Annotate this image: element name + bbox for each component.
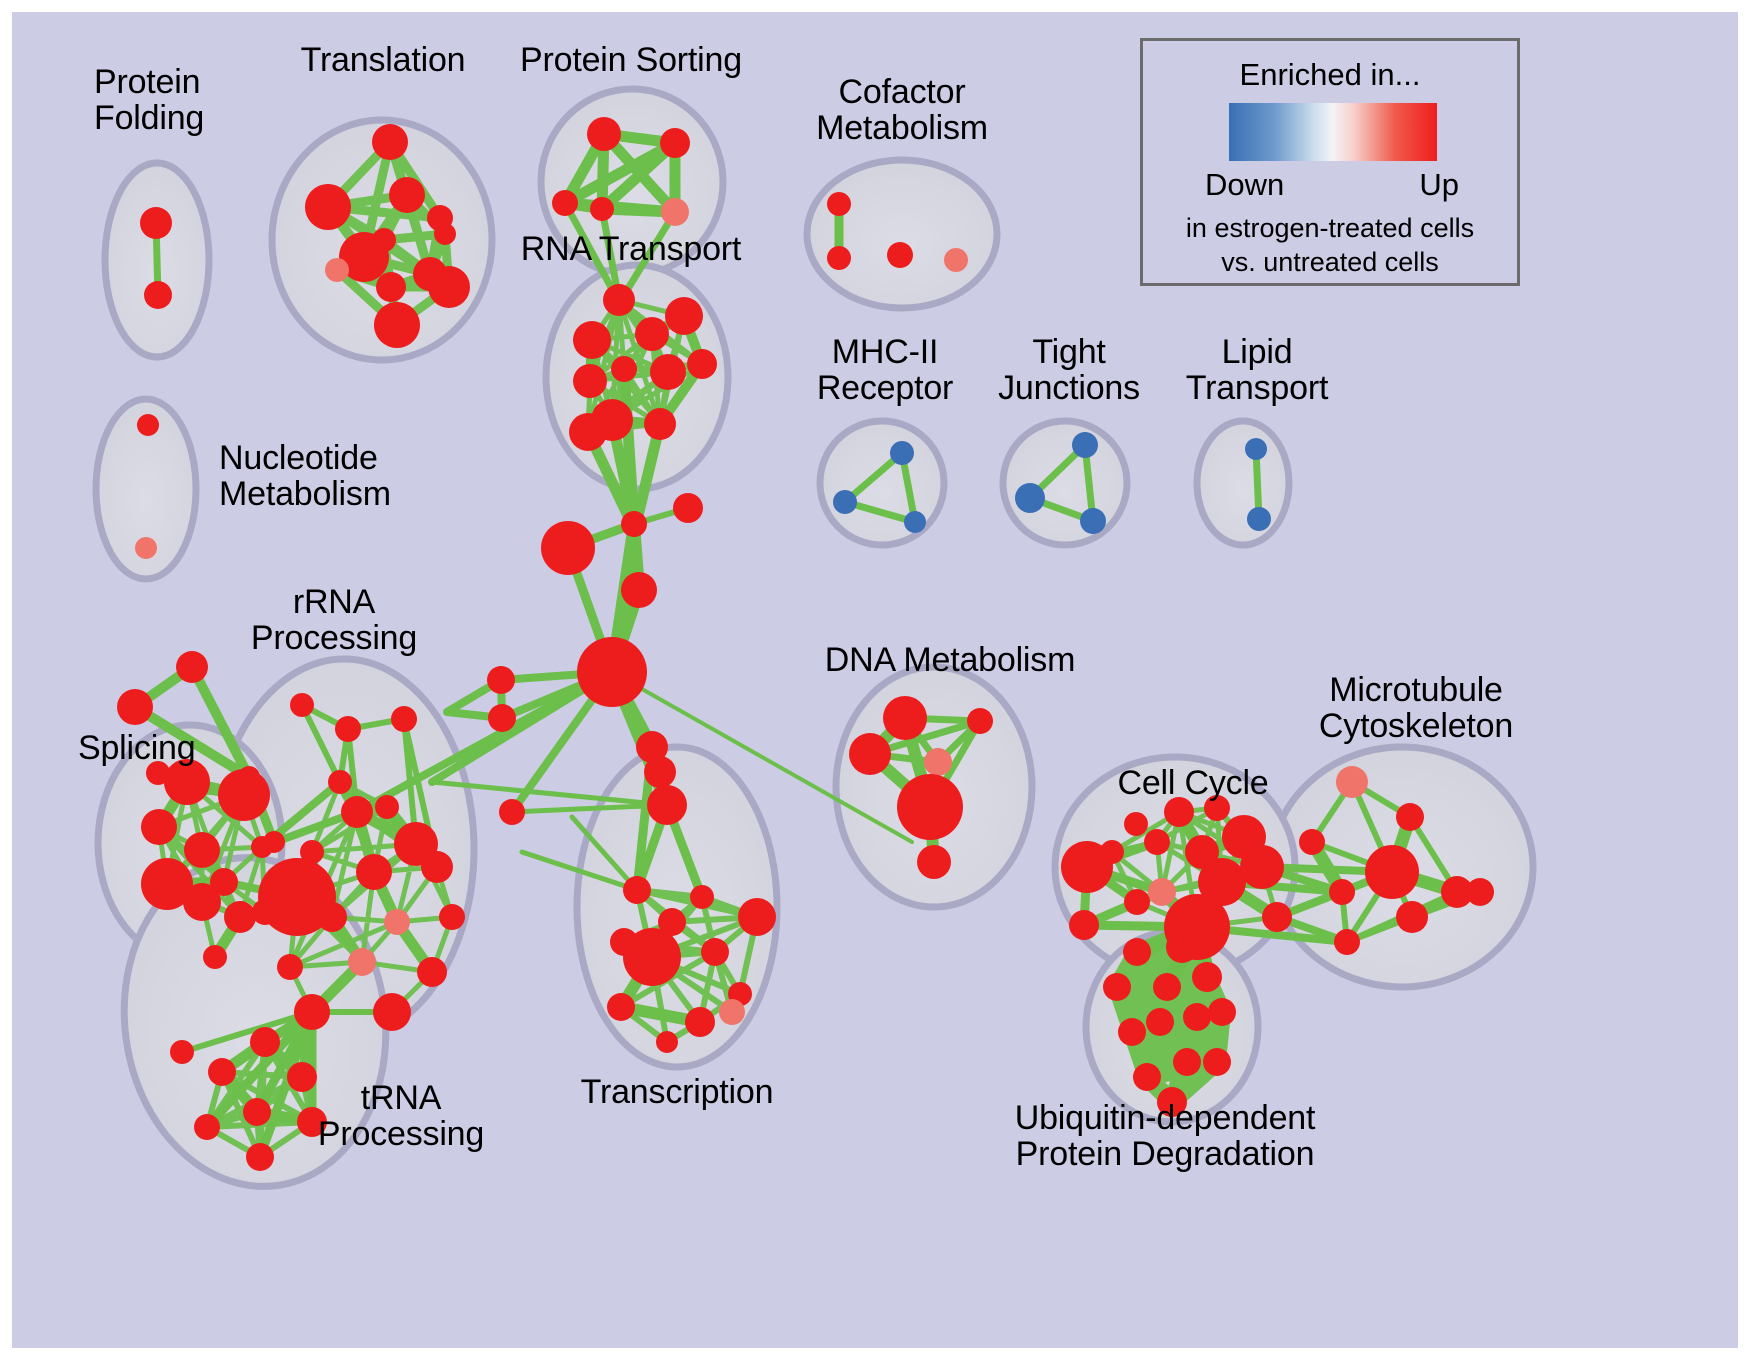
network-canvas: Protein Folding Translation Protein Sort…	[12, 12, 1738, 1348]
cluster-label-mhc-ii-receptor: MHC-II Receptor	[817, 334, 953, 406]
cluster-label-ubiquitin-protein-degradation: Ubiquitin-dependent Protein Degradation	[1015, 1100, 1316, 1172]
legend-box: Enriched in... Down Up in estrogen-treat…	[1140, 38, 1520, 286]
cluster-label-nucleotide-metabolism: Nucleotide Metabolism	[219, 440, 391, 512]
hull-tight-junctions	[1003, 421, 1127, 545]
cluster-label-protein-folding: Protein Folding	[94, 64, 204, 136]
cluster-label-translation: Translation	[301, 42, 466, 78]
figure-root: Protein Folding Translation Protein Sort…	[0, 0, 1750, 1360]
cluster-label-lipid-transport: Lipid Transport	[1186, 334, 1328, 406]
hull-lipid-transport	[1197, 421, 1289, 545]
cluster-label-trna-processing: tRNA Processing	[318, 1080, 484, 1152]
legend-subtitle-line-1: in estrogen-treated cells	[1143, 213, 1517, 244]
legend-title: Enriched in...	[1143, 57, 1517, 93]
cluster-label-microtubule-cytoskeleton: Microtubule Cytoskeleton	[1319, 672, 1513, 744]
cluster-label-protein-sorting: Protein Sorting	[520, 42, 742, 78]
cluster-label-transcription: Transcription	[581, 1074, 774, 1110]
legend-high-label: Up	[1419, 167, 1459, 203]
cluster-label-cofactor-metabolism: Cofactor Metabolism	[816, 74, 988, 146]
cluster-label-tight-junctions: Tight Junctions	[998, 334, 1140, 406]
cluster-label-cell-cycle: Cell Cycle	[1117, 765, 1268, 801]
legend-color-gradient-bar	[1229, 103, 1437, 161]
legend-subtitle-line-2: vs. untreated cells	[1143, 247, 1517, 278]
cluster-label-dna-metabolism: DNA Metabolism	[825, 642, 1075, 678]
cluster-label-splicing: Splicing	[78, 730, 195, 766]
cluster-label-rrna-processing: rRNA Processing	[251, 584, 417, 656]
cluster-label-rna-transport: RNA Transport	[521, 231, 741, 267]
legend-low-label: Down	[1205, 167, 1284, 203]
hull-mhc-ii	[820, 421, 944, 545]
